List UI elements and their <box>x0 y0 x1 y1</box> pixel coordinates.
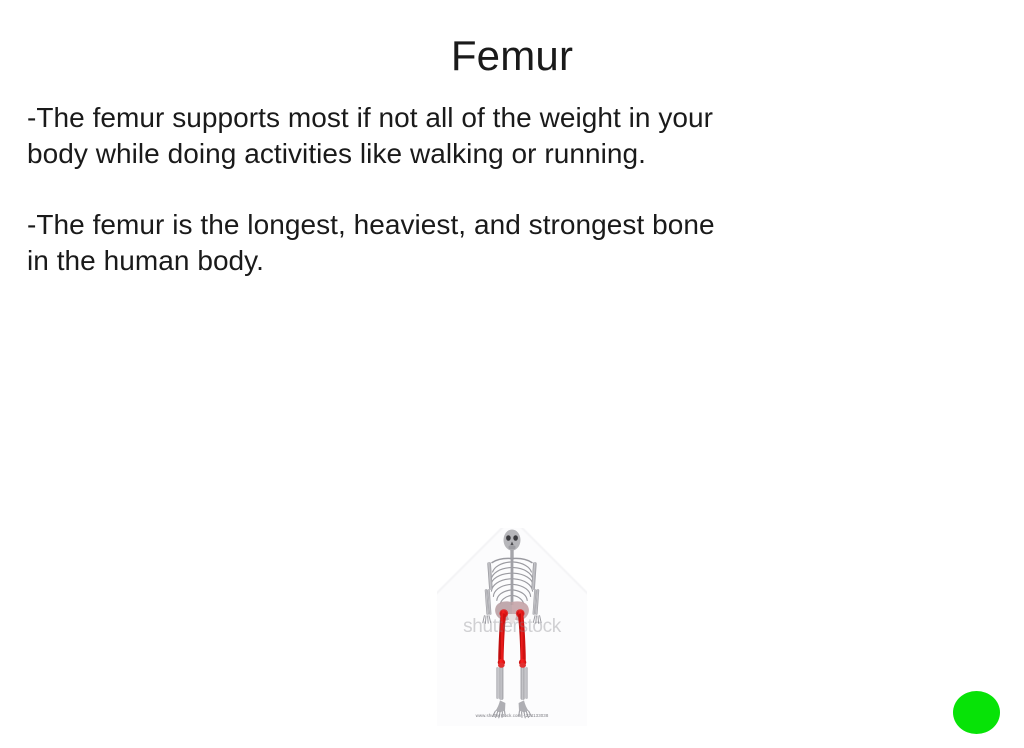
skull-and-spine <box>504 530 521 606</box>
bullet-paragraph-2: -The femur is the longest, heaviest, and… <box>27 207 717 280</box>
right-arm <box>531 562 541 623</box>
left-foot <box>493 700 506 717</box>
page-title: Femur <box>0 33 1024 78</box>
right-foot <box>519 700 532 717</box>
femur-highlighted-right <box>517 610 526 665</box>
right-lower-leg <box>519 663 527 700</box>
recording-indicator[interactable] <box>953 691 1000 734</box>
skeleton-stock-image[interactable]: shutterstock www.shutterstock.com · 2141… <box>437 528 587 726</box>
left-arm <box>483 562 493 623</box>
femur-highlighted-left <box>498 610 507 665</box>
skeleton-illustration <box>437 528 587 726</box>
slide-body: -The femur supports most if not all of t… <box>27 100 717 280</box>
slide-canvas: Femur -The femur supports most if not al… <box>0 0 1024 748</box>
bullet-paragraph-1: -The femur supports most if not all of t… <box>27 100 717 173</box>
left-lower-leg <box>496 663 504 700</box>
